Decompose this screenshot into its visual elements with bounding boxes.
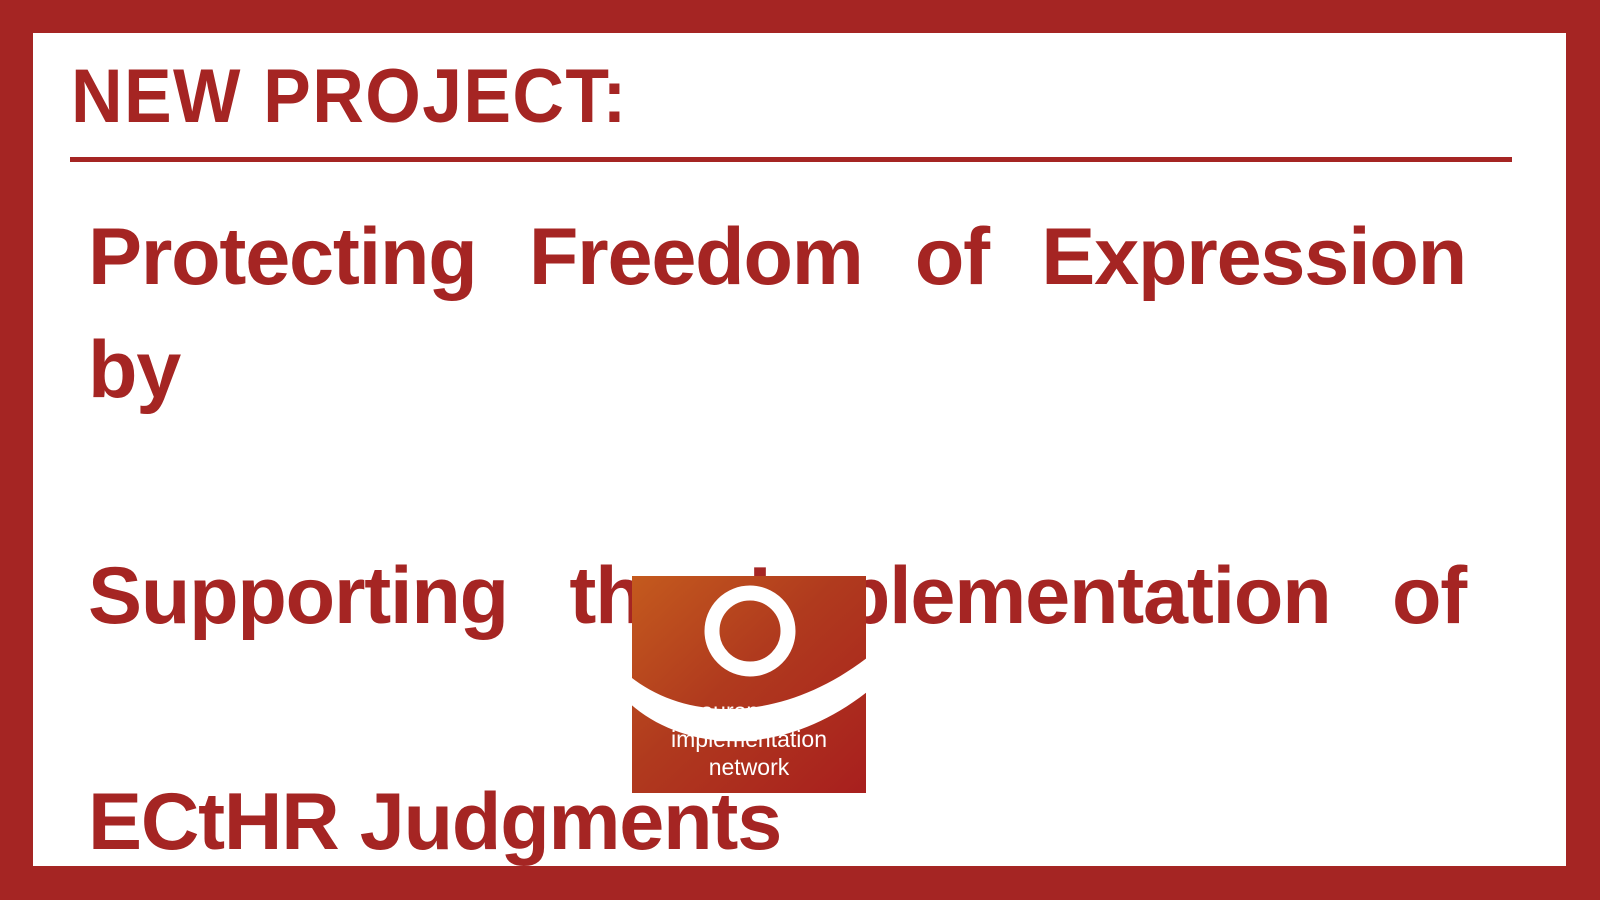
logo-text-line-3: network xyxy=(709,754,790,780)
kicker-label: NEW PROJECT: xyxy=(71,58,628,136)
divider-rule xyxy=(70,157,1512,162)
logo-text-line-2: implementation xyxy=(671,726,827,752)
headline-line-1: Protecting Freedom of Expression by xyxy=(88,201,1466,540)
white-card: NEW PROJECT: Protecting Freedom of Expre… xyxy=(33,33,1566,866)
poster-canvas: NEW PROJECT: Protecting Freedom of Expre… xyxy=(0,0,1600,900)
ein-logo: european implementation network xyxy=(632,576,866,793)
ein-logo-graphic: european implementation network xyxy=(632,576,866,793)
logo-text-line-1: european xyxy=(700,698,797,724)
